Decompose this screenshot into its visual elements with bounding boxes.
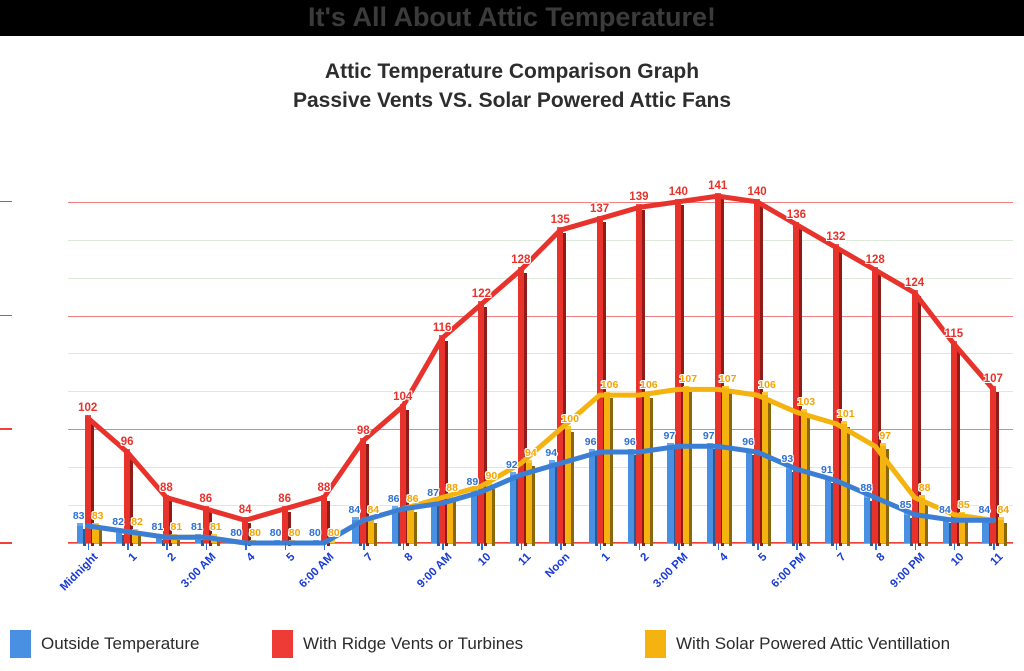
data-label-red: 98 xyxy=(357,425,370,437)
y-axis-tick xyxy=(0,542,12,544)
x-axis-tick xyxy=(560,543,562,550)
y-axis-tick xyxy=(0,201,12,203)
data-label-red: 84 xyxy=(239,504,252,516)
data-label-red: 128 xyxy=(511,254,530,266)
x-axis-tick xyxy=(718,543,720,550)
x-axis-tick xyxy=(875,543,877,550)
chart-title: Attic Temperature Comparison Graph xyxy=(0,58,1024,85)
chart-subtitle: Passive Vents VS. Solar Powered Attic Fa… xyxy=(0,87,1024,114)
x-axis-tick xyxy=(639,543,641,550)
data-label-blue: 97 xyxy=(703,430,715,442)
data-label-blue: 86 xyxy=(388,493,400,505)
banner-title: It's All About Attic Temperature! xyxy=(0,0,1024,36)
data-label-blue: 96 xyxy=(742,436,754,448)
data-label-yellow: 101 xyxy=(837,408,855,420)
data-label-red: 115 xyxy=(945,328,964,340)
data-label-red: 140 xyxy=(748,186,767,198)
data-label-red: 102 xyxy=(78,402,97,414)
x-axis-tick xyxy=(678,543,680,550)
x-axis-tick xyxy=(88,543,90,550)
plot-area: 8010012014010283839682828881818681818480… xyxy=(68,179,1013,543)
x-axis-tick xyxy=(363,543,365,550)
data-label-red: 86 xyxy=(278,493,291,505)
x-axis-tick xyxy=(915,543,917,550)
y-axis-tick xyxy=(0,315,12,317)
data-label-blue: 97 xyxy=(663,430,675,442)
x-axis-tick xyxy=(442,543,444,550)
data-label-yellow: 84 xyxy=(997,504,1009,516)
data-label-blue: 83 xyxy=(73,510,85,522)
header-banner: It's All About Attic Temperature! xyxy=(0,0,1024,36)
data-label-blue: 92 xyxy=(506,459,518,471)
x-axis-tick xyxy=(993,543,995,550)
x-axis-tick xyxy=(166,543,168,550)
data-label-red: 104 xyxy=(393,391,412,403)
x-axis-tick xyxy=(324,543,326,550)
x-axis-tick xyxy=(521,543,523,550)
data-label-yellow: 100 xyxy=(561,413,579,425)
data-label-blue: 80 xyxy=(309,527,321,539)
legend-label: Outside Temperature xyxy=(41,631,199,657)
x-axis-tick xyxy=(285,543,287,550)
y-axis-tick xyxy=(0,428,12,430)
data-label-red: 88 xyxy=(317,482,330,494)
data-label-red: 122 xyxy=(472,288,491,300)
data-label-yellow: 86 xyxy=(407,493,419,505)
data-label-red: 96 xyxy=(121,436,134,448)
x-axis-tick xyxy=(757,543,759,550)
data-label-blue: 85 xyxy=(900,499,912,511)
data-label-blue: 84 xyxy=(348,504,360,516)
data-label-blue: 80 xyxy=(270,527,282,539)
data-label-blue: 93 xyxy=(782,453,794,465)
data-label-red: 136 xyxy=(787,209,806,221)
data-label-blue: 81 xyxy=(191,521,203,533)
data-label-yellow: 84 xyxy=(367,504,379,516)
chart-legend: Outside TemperatureWith Ridge Vents or T… xyxy=(0,618,1024,671)
data-label-red: 137 xyxy=(590,203,609,215)
data-label-blue: 91 xyxy=(821,464,833,476)
data-label-blue: 96 xyxy=(585,436,597,448)
x-axis-tick xyxy=(245,543,247,550)
data-label-yellow: 97 xyxy=(879,430,891,442)
data-label-blue: 88 xyxy=(860,482,872,494)
data-label-yellow: 90 xyxy=(486,470,498,482)
data-label-red: 128 xyxy=(866,254,885,266)
data-label-blue: 80 xyxy=(230,527,242,539)
legend-swatch-red xyxy=(272,630,293,658)
data-label-blue: 81 xyxy=(152,521,164,533)
x-axis-tick xyxy=(403,543,405,550)
data-label-yellow: 107 xyxy=(719,373,737,385)
data-label-red: 107 xyxy=(984,373,1003,385)
data-label-yellow: 103 xyxy=(798,396,816,408)
data-label-yellow: 81 xyxy=(171,521,183,533)
data-label-yellow: 107 xyxy=(680,373,698,385)
x-axis-tick xyxy=(954,543,956,550)
x-axis-tick xyxy=(836,543,838,550)
data-label-red: 124 xyxy=(905,277,924,289)
x-axis-tick xyxy=(481,543,483,550)
data-label-blue: 89 xyxy=(467,476,479,488)
data-label-yellow: 80 xyxy=(328,527,340,539)
data-label-red: 139 xyxy=(629,191,648,203)
data-label-yellow: 80 xyxy=(289,527,301,539)
data-label-blue: 94 xyxy=(545,447,557,459)
data-label-yellow: 82 xyxy=(131,516,143,528)
data-label-yellow: 94 xyxy=(525,447,537,459)
data-label-red: 88 xyxy=(160,482,173,494)
data-label-yellow: 81 xyxy=(210,521,222,533)
data-label-yellow: 88 xyxy=(919,482,931,494)
data-label-red: 135 xyxy=(551,214,570,226)
chart-page: It's All About Attic Temperature! Attic … xyxy=(0,0,1024,671)
data-label-red: 141 xyxy=(708,180,727,192)
data-label-yellow: 88 xyxy=(446,482,458,494)
legend-label: With Solar Powered Attic Ventillation xyxy=(676,631,950,657)
x-axis-tick xyxy=(127,543,129,550)
data-label-yellow: 106 xyxy=(640,379,658,391)
data-label-yellow: 106 xyxy=(758,379,776,391)
data-label-red: 140 xyxy=(669,186,688,198)
line-outside-temperature xyxy=(88,446,994,543)
data-label-red: 86 xyxy=(199,493,212,505)
data-label-red: 116 xyxy=(433,322,452,334)
data-label-blue: 84 xyxy=(939,504,951,516)
data-label-blue: 84 xyxy=(978,504,990,516)
data-label-yellow: 83 xyxy=(92,510,104,522)
data-label-blue: 82 xyxy=(112,516,124,528)
data-label-yellow: 80 xyxy=(249,527,261,539)
x-axis-tick xyxy=(600,543,602,550)
data-label-yellow: 85 xyxy=(958,499,970,511)
data-label-yellow: 106 xyxy=(601,379,619,391)
x-axis-tick xyxy=(796,543,798,550)
data-label-blue: 87 xyxy=(427,487,439,499)
data-label-blue: 96 xyxy=(624,436,636,448)
x-axis-tick xyxy=(206,543,208,550)
data-label-red: 132 xyxy=(826,231,845,243)
line-solar-ventilation xyxy=(88,389,994,543)
